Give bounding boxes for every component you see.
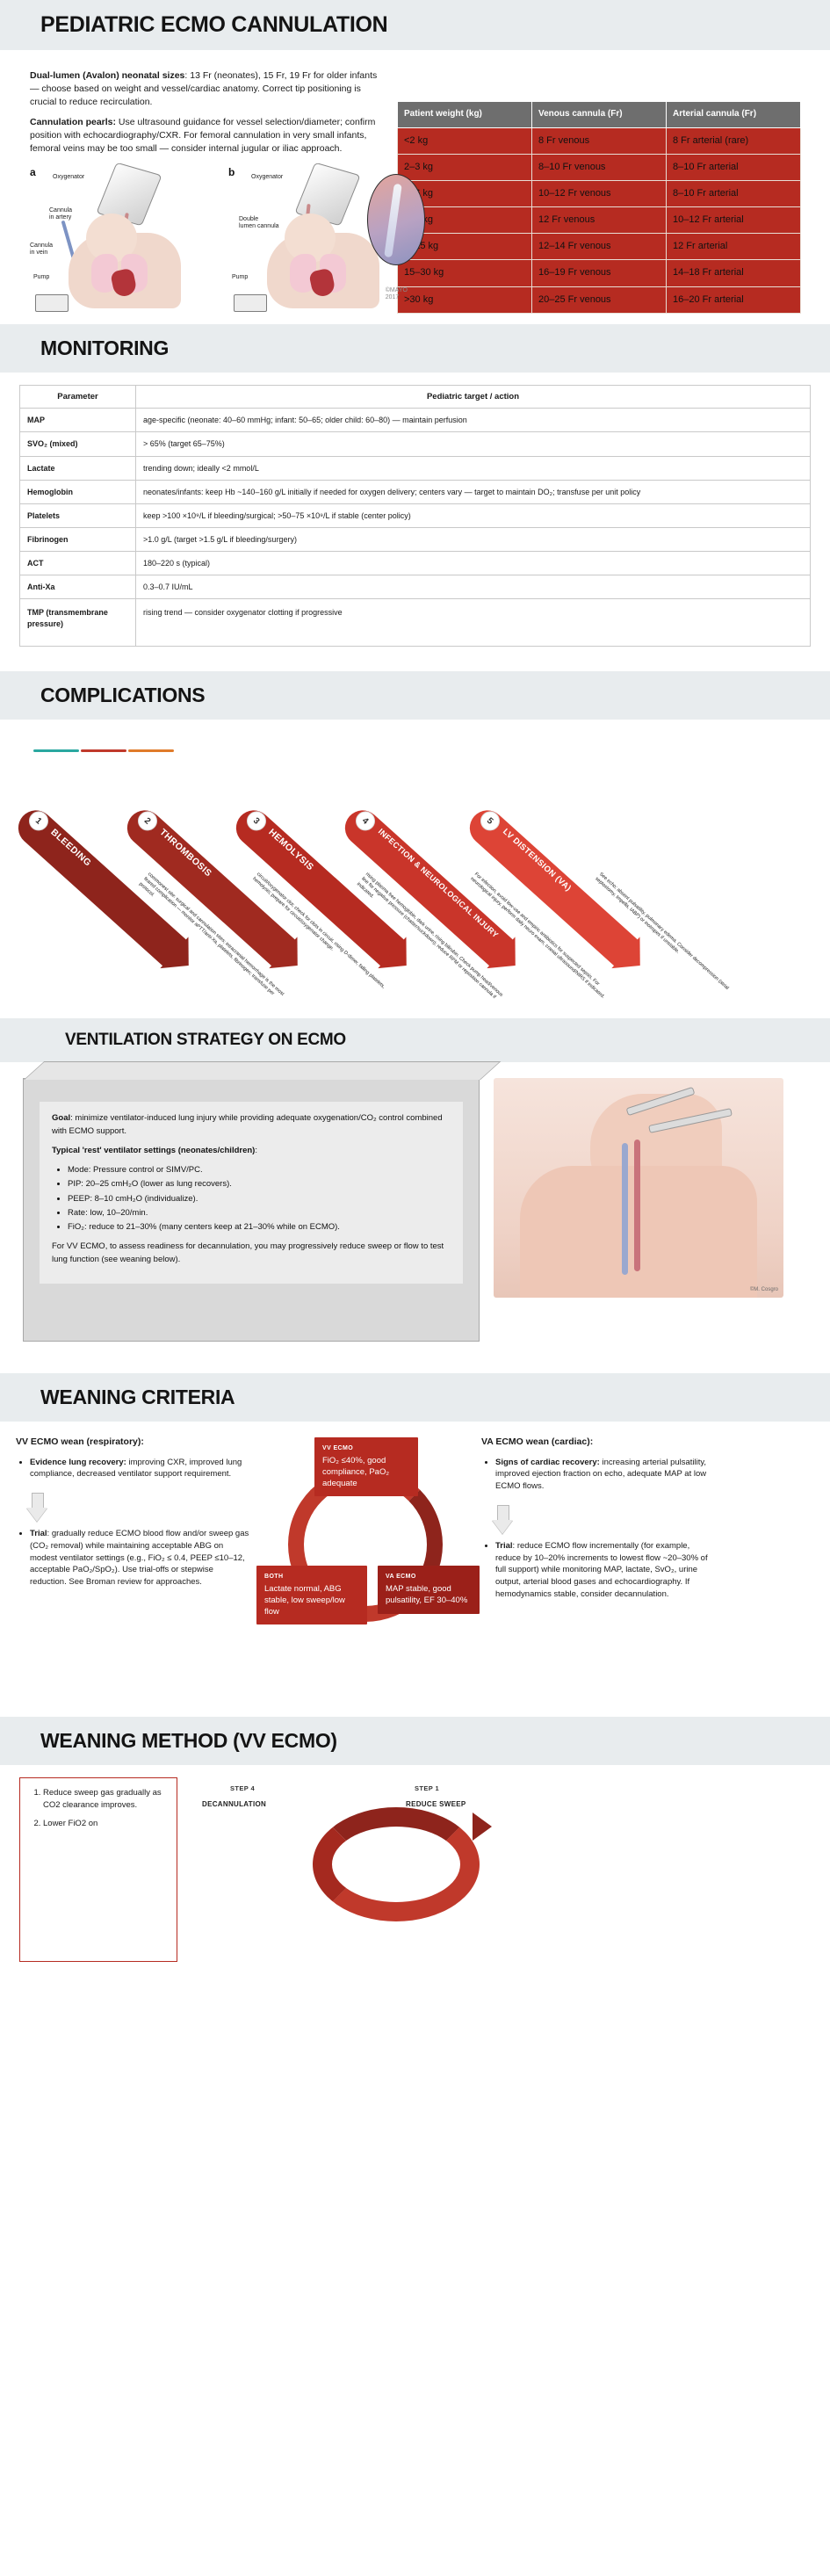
cycle-step-1: STEP 1 — [415, 1784, 439, 1792]
list-item: PIP: 20–25 cmH₂O (lower as lung recovers… — [68, 1178, 451, 1190]
pump-icon-a — [35, 294, 69, 312]
cell-target: rising trend — consider oxygenator clott… — [136, 599, 811, 647]
venous-line-illustration — [622, 1143, 628, 1275]
cell-arterial: 10–12 Fr arterial — [667, 207, 801, 234]
cycle-va-text: MAP stable, good pulsatility, EF 30–40% — [386, 1584, 467, 1605]
list-item: Rate: low, 10–20/min. — [68, 1207, 451, 1219]
monitoring-table-head: Parameter Pediatric target / action — [20, 386, 811, 409]
cannula-table-head: Patient weight (kg) Venous cannula (Fr) … — [398, 102, 801, 128]
cell-parameter: TMP (transmembrane pressure) — [20, 599, 136, 647]
table-row: ACT 180–220 s (typical) — [20, 552, 811, 575]
vv-bullet2-lead: Trial — [30, 1529, 47, 1538]
monitoring-table: Parameter Pediatric target / action MAP … — [19, 385, 811, 647]
weaning-method-body: Reduce sweep gas gradually as CO2 cleara… — [0, 1765, 830, 1997]
complication-arrows: 1 BLEEDING commonest site: surgical and … — [0, 771, 830, 990]
cell-parameter: Hemoglobin — [20, 480, 136, 503]
cell-target: keep >100 ×10⁹/L if bleeding/surgical; >… — [136, 503, 811, 527]
cannula-size-table: Patient weight (kg) Venous cannula (Fr) … — [397, 101, 801, 314]
cell-parameter: ACT — [20, 552, 136, 575]
vv-wean-list: Evidence lung recovery: improving CXR, i… — [16, 1457, 251, 1481]
section-monitoring: MONITORING Parameter Pediatric target / … — [0, 324, 830, 662]
table-row: Lactate trending down; ideally <2 mmol/L — [20, 456, 811, 480]
cannulation-p2-lead: Cannulation pearls: — [30, 117, 116, 127]
va-wean-list-2: Trial: reduce ECMO flow incrementally (f… — [481, 1540, 717, 1601]
table-row: <2 kg 8 Fr venous 8 Fr arterial (rare) — [398, 127, 801, 154]
table-row: 15–30 kg 16–19 Fr venous 14–18 Fr arteri… — [398, 260, 801, 286]
table-row: >30 kg 20–25 Fr venous 16–20 Fr arterial — [398, 286, 801, 313]
section-complications: COMPLICATIONS 1 BLEEDING commonest site:… — [0, 671, 830, 1009]
cycle-label-reduce-sweep: REDUCE SWEEP — [406, 1800, 466, 1808]
section-gap — [0, 315, 830, 324]
cell-target: age-specific (neonate: 40–60 mmHg; infan… — [136, 409, 811, 432]
decorative-swoosh — [33, 749, 174, 762]
table-header-row: Parameter Pediatric target / action — [20, 386, 811, 409]
col-venous-cannula: Venous cannula (Fr) — [532, 102, 667, 128]
diagram-panel-a: a Oxygenator Pump Cannula in artery Cann… — [30, 162, 228, 315]
cannula-vein-label: Cannula in vein — [30, 242, 53, 257]
cell-arterial: 16–20 Fr arterial — [667, 286, 801, 313]
table-row: Platelets keep >100 ×10⁹/L if bleeding/s… — [20, 503, 811, 527]
section-weaning-method: WEANING METHOD (VV ECMO) Reduce sweep ga… — [0, 1717, 830, 1997]
cell-venous: 16–19 Fr venous — [532, 260, 667, 286]
vv-wean-column: VV ECMO wean (respiratory): Evidence lun… — [16, 1429, 251, 1601]
weaning-steps-list: Reduce sweep gas gradually as CO2 cleara… — [19, 1777, 177, 1962]
cell-arterial: 12 Fr arterial — [667, 234, 801, 260]
weaning-steps-ol: Reduce sweep gas gradually as CO2 cleara… — [24, 1787, 170, 1829]
col-arterial-cannula: Arterial cannula (Fr) — [667, 102, 801, 128]
document-page: PEDIATRIC ECMO CANNULATION Dual-lumen (A… — [0, 0, 830, 1997]
cell-weight: <2 kg — [398, 127, 532, 154]
ventilation-closing: For VV ECMO, to assess readiness for dec… — [52, 1241, 451, 1266]
section-gap — [0, 1364, 830, 1373]
list-item: Trial: reduce ECMO flow incrementally (f… — [495, 1540, 717, 1601]
list-item: FiO₂: reduce to 21–30% (many centers kee… — [68, 1221, 451, 1234]
va-wean-heading: VA ECMO wean (cardiac): — [481, 1436, 717, 1449]
cannulation-paragraph-2: Cannulation pearls: Use ultrasound guida… — [30, 116, 383, 156]
ventilation-body: Goal: minimize ventilator-induced lung i… — [0, 1062, 830, 1364]
cannula-size-table-wrap: Patient weight (kg) Venous cannula (Fr) … — [397, 59, 830, 314]
cell-target: 180–220 s (typical) — [136, 552, 811, 575]
double-lumen-label: Double lumen cannula — [239, 216, 279, 230]
oxygenator-label-a: Oxygenator — [53, 174, 84, 181]
list-item: Mode: Pressure control or SIMV/PC. — [68, 1164, 451, 1176]
cell-parameter: Anti-Xa — [20, 575, 136, 599]
table-row: 6–8 kg 12 Fr venous 10–12 Fr arterial — [398, 207, 801, 234]
cycle-va-tag: VA ECMO — [386, 1573, 472, 1581]
section-ventilation: VENTILATION STRATEGY ON ECMO Goal: minim… — [0, 1018, 830, 1364]
cell-venous: 12–14 Fr venous — [532, 234, 667, 260]
oxygenator-label-b: Oxygenator — [251, 174, 283, 181]
cycle-arrowhead-icon — [473, 1813, 492, 1841]
weaning-criteria-banner: WEANING CRITERIA — [0, 1373, 830, 1422]
cell-venous: 8–10 Fr venous — [532, 154, 667, 180]
ventilation-panel: Goal: minimize ventilator-induced lung i… — [23, 1078, 480, 1342]
cannula-table-body: <2 kg 8 Fr venous 8 Fr arterial (rare) 2… — [398, 127, 801, 313]
table-row: Anti-Xa 0.3–0.7 IU/mL — [20, 575, 811, 599]
table-row: Fibrinogen >1.0 g/L (target >1.5 g/L if … — [20, 528, 811, 552]
va-bullet2-rest: : reduce ECMO flow incrementally (for ex… — [495, 1541, 708, 1599]
col-target-action: Pediatric target / action — [136, 386, 811, 409]
ventilation-banner: VENTILATION STRATEGY ON ECMO — [0, 1018, 830, 1062]
cannula-artery-label: Cannula in artery — [49, 207, 72, 221]
table-header-row: Patient weight (kg) Venous cannula (Fr) … — [398, 102, 801, 128]
col-parameter: Parameter — [20, 386, 136, 409]
table-row: 8–15 kg 12–14 Fr venous 12 Fr arterial — [398, 234, 801, 260]
vv-bullet1-lead: Evidence lung recovery: — [30, 1458, 126, 1467]
cell-arterial: 14–18 Fr arterial — [667, 260, 801, 286]
table-row: 3–6 kg 10–12 Fr venous 8–10 Fr arterial — [398, 180, 801, 206]
table-row: MAP age-specific (neonate: 40–60 mmHg; i… — [20, 409, 811, 432]
diagram-credit: ©MAYO 2017 — [386, 287, 408, 301]
diagram-panel-b: b Oxygenator Pump Double lumen cannula — [228, 162, 427, 315]
section-weaning-criteria: WEANING CRITERIA VV ECMO wean (respirato… — [0, 1373, 830, 1708]
cannulation-p1-lead: Dual-lumen (Avalon) neonatal sizes — [30, 70, 184, 81]
ventilation-settings-list: Mode: Pressure control or SIMV/PC. PIP: … — [52, 1164, 451, 1234]
cycle-step-4: STEP 4 — [230, 1784, 255, 1792]
weaning-method-title: WEANING METHOD (VV ECMO) — [40, 1729, 830, 1753]
complications-diagram: 1 BLEEDING commonest site: surgical and … — [0, 720, 830, 1009]
page-title: PEDIATRIC ECMO CANNULATION — [40, 12, 830, 38]
table-row: SVO₂ (mixed) > 65% (target 65–75%) — [20, 432, 811, 456]
monitoring-title: MONITORING — [40, 336, 830, 360]
swoosh-red — [81, 749, 126, 752]
weaning-cycle-diagram: VV ECMO FiO₂ ≤40%, good compliance, PaO₂… — [256, 1437, 476, 1683]
list-item: Reduce sweep gas gradually as CO2 cleara… — [43, 1787, 170, 1812]
section-gap — [0, 1708, 830, 1717]
ventilation-title: VENTILATION STRATEGY ON ECMO — [65, 1031, 830, 1050]
col-patient-weight: Patient weight (kg) — [398, 102, 532, 128]
down-arrow-icon — [494, 1505, 513, 1535]
neck-cannulation-illustration: ©M. Cosgro — [494, 1078, 783, 1298]
diagram-label-a: a — [30, 165, 36, 180]
cycle-both-box: BOTH Lactate normal, ABG stable, low swe… — [256, 1566, 367, 1624]
ventilation-settings-heading: Typical 'rest' ventilator settings (neon… — [52, 1145, 451, 1157]
cannulation-diagram: a Oxygenator Pump Cannula in artery Cann… — [30, 162, 427, 315]
ventilation-goal: Goal: minimize ventilator-induced lung i… — [52, 1112, 451, 1138]
section-cannulation: PEDIATRIC ECMO CANNULATION Dual-lumen (A… — [0, 0, 830, 315]
cell-parameter: Fibrinogen — [20, 528, 136, 552]
cycle-vv-tag: VV ECMO — [322, 1444, 410, 1452]
cell-target: neonates/infants: keep Hb ~140–160 g/L i… — [136, 480, 811, 503]
cell-arterial: 8–10 Fr arterial — [667, 154, 801, 180]
monitoring-body: Parameter Pediatric target / action MAP … — [0, 373, 830, 662]
down-arrow-icon — [28, 1493, 47, 1523]
vv-bullet2-rest: : gradually reduce ECMO blood flow and/o… — [30, 1529, 249, 1587]
list-item: Lower FiO2 on — [43, 1818, 170, 1830]
weaning-cycle-ring — [313, 1807, 480, 1921]
cycle-va-box: VA ECMO MAP stable, good pulsatility, EF… — [378, 1566, 480, 1613]
cycle-vv-text: FiO₂ ≤40%, good compliance, PaO₂ adequat… — [322, 1456, 389, 1488]
list-item: PEEP: 8–10 cmH₂O (individualize). — [68, 1193, 451, 1205]
weaning-criteria-title: WEANING CRITERIA — [40, 1386, 830, 1409]
vv-wean-heading: VV ECMO wean (respiratory): — [16, 1436, 251, 1449]
cell-target: trending down; ideally <2 mmol/L — [136, 456, 811, 480]
cycle-label-decannulation: DECANNULATION — [202, 1800, 266, 1808]
cardiac-inset-detail — [367, 174, 425, 265]
cell-parameter: MAP — [20, 409, 136, 432]
cell-target: 0.3–0.7 IU/mL — [136, 575, 811, 599]
illustration-credit: ©M. Cosgro — [750, 1287, 778, 1292]
list-item: Evidence lung recovery: improving CXR, i… — [30, 1457, 251, 1481]
weaning-criteria-body: VV ECMO wean (respiratory): Evidence lun… — [0, 1422, 830, 1708]
pump-label-b: Pump — [232, 274, 248, 281]
diagram-label-b: b — [228, 165, 235, 180]
cycle-vv-box: VV ECMO FiO₂ ≤40%, good compliance, PaO₂… — [314, 1437, 418, 1496]
table-row: Hemoglobin neonates/infants: keep Hb ~14… — [20, 480, 811, 503]
cell-venous: 10–12 Fr venous — [532, 180, 667, 206]
pump-label-a: Pump — [33, 274, 49, 281]
ventilation-settings-colon: : — [255, 1146, 257, 1155]
complications-title: COMPLICATIONS — [40, 684, 830, 707]
ventilation-goal-lead: Goal — [52, 1113, 70, 1123]
cell-parameter: SVO₂ (mixed) — [20, 432, 136, 456]
va-wean-column: VA ECMO wean (cardiac): Signs of cardiac… — [481, 1429, 717, 1612]
va-bullet1-lead: Signs of cardiac recovery: — [495, 1458, 600, 1467]
cycle-both-tag: BOTH — [264, 1573, 359, 1581]
cell-arterial: 8 Fr arterial (rare) — [667, 127, 801, 154]
swoosh-teal — [33, 749, 79, 752]
section-gap — [0, 662, 830, 671]
complications-banner: COMPLICATIONS — [0, 671, 830, 720]
ventilation-content: Goal: minimize ventilator-induced lung i… — [40, 1102, 463, 1284]
list-item: Signs of cardiac recovery: increasing ar… — [495, 1457, 717, 1493]
cannulation-banner: PEDIATRIC ECMO CANNULATION — [0, 0, 830, 50]
cell-target: > 65% (target 65–75%) — [136, 432, 811, 456]
arterial-line-illustration — [634, 1140, 640, 1271]
cell-parameter: Platelets — [20, 503, 136, 527]
weaning-method-cycle: STEP 4 DECANNULATION STEP 1 REDUCE SWEEP — [190, 1777, 811, 1962]
cannulation-text: Dual-lumen (Avalon) neonatal sizes: 13 F… — [0, 59, 397, 315]
table-row: TMP (transmembrane pressure) rising tren… — [20, 599, 811, 647]
cell-venous: 20–25 Fr venous — [532, 286, 667, 313]
section-gap — [0, 1009, 830, 1018]
va-bullet2-lead: Trial — [495, 1541, 513, 1551]
cell-arterial: 8–10 Fr arterial — [667, 180, 801, 206]
cannulation-paragraph-1: Dual-lumen (Avalon) neonatal sizes: 13 F… — [30, 69, 383, 110]
list-item: Trial: gradually reduce ECMO blood flow … — [30, 1528, 251, 1588]
cell-venous: 12 Fr venous — [532, 207, 667, 234]
vv-wean-list-2: Trial: gradually reduce ECMO blood flow … — [16, 1528, 251, 1588]
va-wean-list: Signs of cardiac recovery: increasing ar… — [481, 1457, 717, 1493]
swoosh-orange — [128, 749, 174, 752]
cell-parameter: Lactate — [20, 456, 136, 480]
table-row: 2–3 kg 8–10 Fr venous 8–10 Fr arterial — [398, 154, 801, 180]
cannulation-body: Dual-lumen (Avalon) neonatal sizes: 13 F… — [0, 50, 830, 315]
cycle-both-text: Lactate normal, ABG stable, low sweep/lo… — [264, 1584, 345, 1617]
weaning-method-banner: WEANING METHOD (VV ECMO) — [0, 1717, 830, 1765]
ventilation-goal-rest: : minimize ventilator-induced lung injur… — [52, 1113, 443, 1135]
cell-venous: 8 Fr venous — [532, 127, 667, 154]
pump-icon-b — [234, 294, 267, 312]
cell-target: >1.0 g/L (target >1.5 g/L if bleeding/su… — [136, 528, 811, 552]
monitoring-banner: MONITORING — [0, 324, 830, 373]
ventilation-settings-lead: Typical 'rest' ventilator settings (neon… — [52, 1146, 255, 1155]
monitoring-table-body: MAP age-specific (neonate: 40–60 mmHg; i… — [20, 409, 811, 647]
